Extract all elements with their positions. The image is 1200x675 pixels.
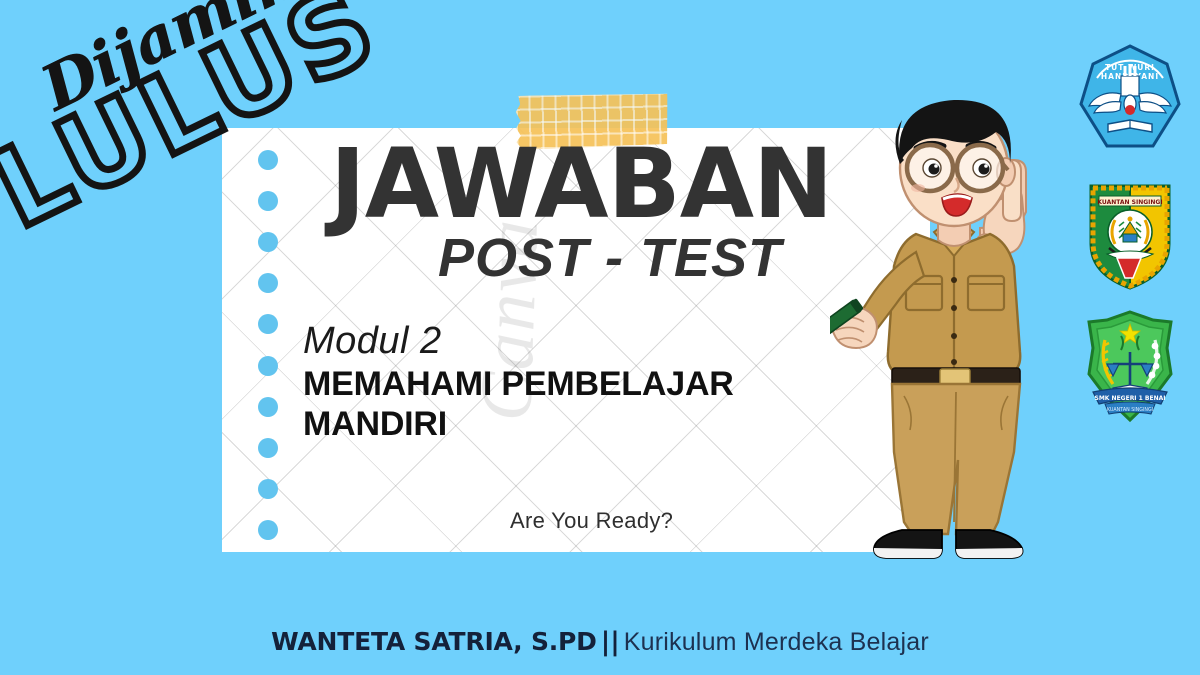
smk-negeri-school-logo: SMK NEGERI 1 BENAI KUANTAN SINGINGI <box>1075 306 1185 426</box>
notebook-hole <box>258 356 278 376</box>
institution-logos: TUT WURI HANDAYANI KUANTAN SINGINGI <box>1068 42 1192 426</box>
notebook-hole <box>258 438 278 458</box>
notebook-hole <box>258 520 278 540</box>
badge-outline-word: LULUS <box>0 0 397 253</box>
module-block: Modul 2 MEMAHAMI PEMBELAJAR MANDIRI <box>303 322 863 444</box>
tut-wuri-handayani-logo: TUT WURI HANDAYANI <box>1075 42 1185 162</box>
guarantee-badge: Dijamin LULUS <box>0 0 420 300</box>
belt-buckle <box>940 369 970 385</box>
module-label: Modul 2 <box>303 322 863 362</box>
footer-credit: WANTETA SATRIA, S.PD||Kurikulum Merdeka … <box>0 627 1200 657</box>
svg-text:SMK NEGERI 1 BENAI: SMK NEGERI 1 BENAI <box>1095 395 1166 402</box>
author-name: WANTETA SATRIA, S.PD <box>271 627 597 656</box>
slide-canvas: Canva JAWABAN POST - TEST Modul 2 MEMAHA… <box>0 0 1200 675</box>
svg-text:KUANTAN SINGINGI: KUANTAN SINGINGI <box>1097 199 1162 206</box>
module-title: MEMAHAMI PEMBELAJAR MANDIRI <box>303 364 833 444</box>
footer-tagline: Kurikulum Merdeka Belajar <box>624 628 929 656</box>
kuantan-singingi-regency-logo: KUANTAN SINGINGI <box>1075 174 1185 294</box>
svg-text:KUANTAN SINGINGI: KUANTAN SINGINGI <box>1107 407 1153 413</box>
teacher-illustration <box>830 52 1080 572</box>
notebook-hole <box>258 479 278 499</box>
ready-prompt: Are You Ready? <box>510 508 673 534</box>
footer-separator: || <box>601 627 620 657</box>
notebook-hole <box>258 397 278 417</box>
notebook-hole <box>258 314 278 334</box>
